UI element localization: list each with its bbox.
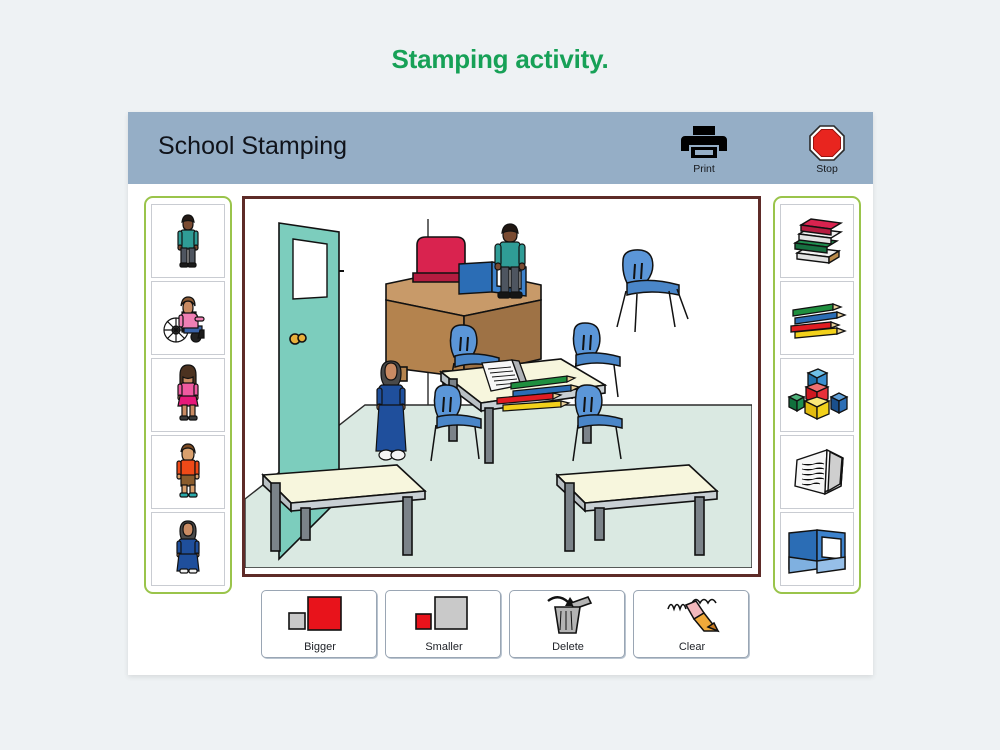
smaller-button[interactable]: Smaller xyxy=(385,590,501,658)
stamp-person-girl[interactable] xyxy=(151,358,225,432)
printer-icon xyxy=(665,122,743,162)
stamp-notebook[interactable] xyxy=(780,435,854,509)
stamp-books[interactable] xyxy=(780,204,854,278)
object-stamp-palette xyxy=(773,196,861,594)
action-toolbar: Bigger Smaller xyxy=(261,590,749,656)
stop-label: Stop xyxy=(788,163,866,175)
clear-label: Clear xyxy=(634,641,750,653)
stop-sign-icon xyxy=(788,122,866,162)
page-title: Stamping activity. xyxy=(0,44,1000,75)
app-titlebar: School Stamping Print Stop xyxy=(128,112,873,184)
stamping-canvas[interactable] xyxy=(242,196,761,577)
stamp-blocks[interactable] xyxy=(780,358,854,432)
print-label: Print xyxy=(665,163,743,175)
clear-button[interactable]: Clear xyxy=(633,590,749,658)
stop-button[interactable]: Stop xyxy=(788,122,866,180)
smaller-squares-icon xyxy=(386,593,502,635)
app-window: School Stamping Print Stop xyxy=(128,112,873,675)
app-title: School Stamping xyxy=(158,132,347,161)
stamp-person-boy[interactable] xyxy=(151,435,225,509)
delete-button[interactable]: Delete xyxy=(509,590,625,658)
people-stamp-palette xyxy=(144,196,232,594)
print-button[interactable]: Print xyxy=(665,122,743,180)
stamp-person-woman-hijab[interactable] xyxy=(151,512,225,586)
trash-can-icon xyxy=(510,593,626,635)
stamp-person-wheelchair[interactable] xyxy=(151,281,225,355)
eraser-pencil-icon xyxy=(634,593,750,635)
stamp-folder[interactable] xyxy=(780,512,854,586)
delete-label: Delete xyxy=(510,641,626,653)
bigger-label: Bigger xyxy=(262,641,378,653)
stamp-pencils[interactable] xyxy=(780,281,854,355)
bigger-squares-icon xyxy=(262,593,378,635)
smaller-label: Smaller xyxy=(386,641,502,653)
bigger-button[interactable]: Bigger xyxy=(261,590,377,658)
stamp-person-standing-man[interactable] xyxy=(151,204,225,278)
